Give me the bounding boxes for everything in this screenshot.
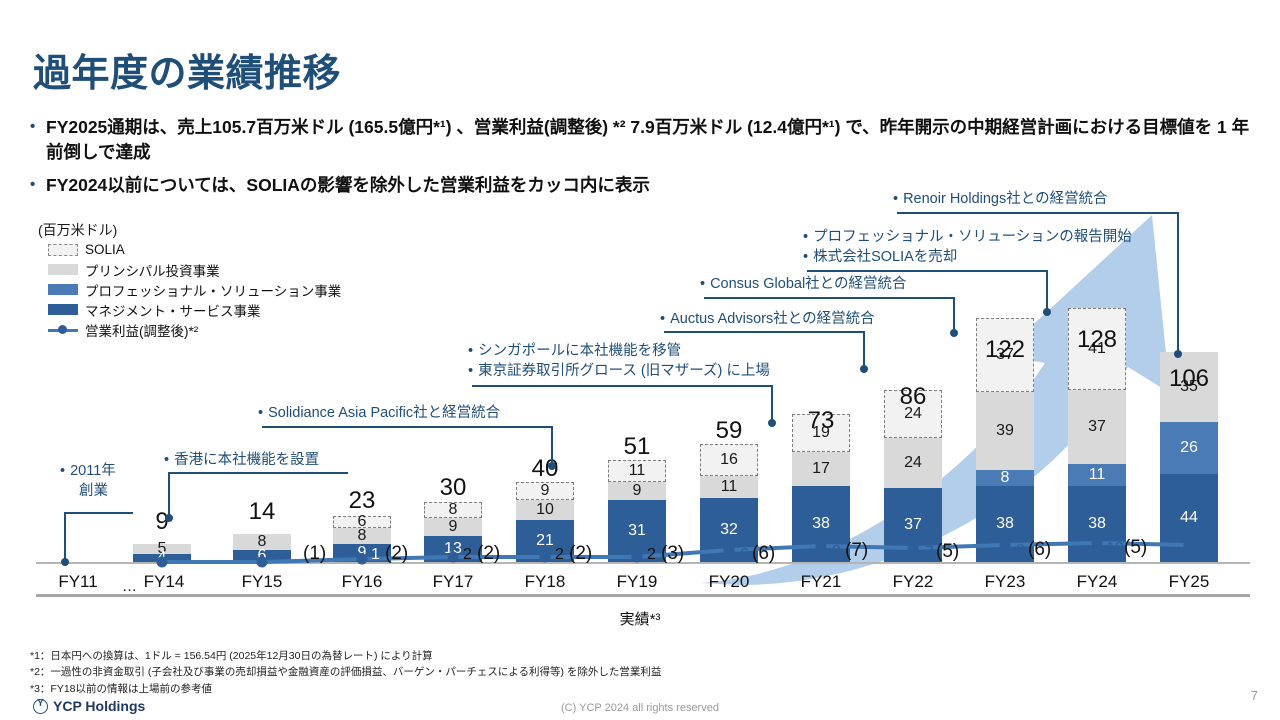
profit-label-FY21: 8 bbox=[832, 543, 841, 561]
segment-value: 8 bbox=[358, 528, 367, 544]
callout-line: 東京証券取引所グロース (旧マザーズ) に上場 bbox=[478, 363, 770, 379]
bar-FY16: 6 8 9 bbox=[333, 516, 391, 562]
x-label-FY11: FY11 bbox=[44, 572, 112, 592]
callout-bullet-icon: • bbox=[803, 229, 808, 245]
callout-auctus: •Auctus Advisors社との経営統合 bbox=[660, 310, 875, 330]
callout-solidiance: •Solidiance Asia Pacific社と経営統合 bbox=[258, 404, 500, 424]
callout-bullet-icon: • bbox=[60, 463, 65, 479]
x-label-FY15: FY15 bbox=[233, 572, 291, 592]
callout-consus-rule bbox=[704, 297, 954, 299]
bar-segment-management: 21 bbox=[516, 520, 574, 562]
profit-ex-label-FY21: (7) bbox=[845, 540, 868, 562]
callout-founded: •2011年 創業 bbox=[60, 462, 116, 501]
x-label-FY20: FY20 bbox=[700, 572, 758, 592]
segment-value: 10 bbox=[536, 502, 554, 518]
bar-total-FY24: 128 bbox=[1068, 326, 1126, 354]
callout-bullet-icon: • bbox=[893, 191, 898, 207]
profit-label-FY18: 2 bbox=[555, 546, 564, 564]
bullet-dot-icon: • bbox=[30, 173, 46, 198]
x-label-FY18: FY18 bbox=[516, 572, 574, 592]
callout-founded-stem bbox=[64, 512, 66, 560]
bullet-text: FY2025通期は、売上105.7百万米ドル (165.5億円*¹) 、営業利益… bbox=[46, 115, 1252, 166]
segment-value: 32 bbox=[720, 522, 738, 538]
bar-segment-professional: 11 bbox=[1068, 464, 1126, 486]
bar-segment-solia: 8 bbox=[424, 502, 482, 518]
bar-segment-professional: 26 bbox=[1160, 422, 1218, 474]
legend-label: プロフェッショナル・ソリューション事業 bbox=[85, 280, 341, 300]
legend-swatch-principal-icon bbox=[48, 264, 78, 275]
callout-solidiance-stem bbox=[551, 426, 553, 464]
chart-axis-line bbox=[36, 594, 1250, 597]
callout-line: 株式会社SOLIAを売却 bbox=[813, 249, 957, 265]
bar-segment-principal: 39 bbox=[976, 392, 1034, 470]
segment-value: 37 bbox=[904, 517, 922, 533]
callout-line: Consus Global社との経営統合 bbox=[710, 276, 906, 292]
bar-segment-solia: 11 bbox=[608, 460, 666, 482]
segment-value: 39 bbox=[996, 423, 1014, 439]
footnote-item: *2：一過性の非資金取引 (子会社及び事業の売却損益や金融資産の評価損益、バーゲ… bbox=[30, 664, 661, 680]
segment-value: 11 bbox=[629, 463, 646, 479]
callout-bullet-icon: • bbox=[700, 276, 705, 292]
callout-bullet-icon: • bbox=[258, 405, 263, 421]
x-label-FY16: FY16 bbox=[333, 572, 391, 592]
profit-ex-label-FY23: (6) bbox=[1028, 539, 1051, 561]
segment-value: 38 bbox=[996, 516, 1014, 532]
legend-swatch-management-icon bbox=[48, 304, 78, 315]
callout-solia-sale: •プロフェッショナル・ソリューションの報告開始 •株式会社SOLIAを売却 bbox=[803, 228, 1132, 267]
profit-ex-label-FY19: (3) bbox=[661, 543, 684, 565]
bullet-dot-icon: • bbox=[30, 115, 46, 166]
bar-total-FY22: 86 bbox=[884, 383, 942, 411]
segment-value: 6 bbox=[258, 548, 267, 564]
bar-segment-principal: 10 bbox=[516, 500, 574, 520]
bar-total-FY20: 59 bbox=[700, 417, 758, 445]
bar-FY22: 24 24 37 bbox=[884, 390, 942, 562]
slide-canvas: 過年度の業績推移 • FY2025通期は、売上105.7百万米ドル (165.5… bbox=[0, 0, 1280, 720]
bar-segment-principal: 17 bbox=[792, 452, 850, 486]
bar-total-FY18: 40 bbox=[516, 455, 574, 483]
callout-hongkong: •香港に本社機能を設置 bbox=[164, 451, 319, 471]
x-label-FY14: FY14 bbox=[135, 572, 193, 592]
x-label-FY22: FY22 bbox=[884, 572, 942, 592]
segment-value: 9 bbox=[449, 519, 458, 535]
callout-solia-sale-rule bbox=[807, 270, 1047, 272]
callout-solia-sale-stem bbox=[1046, 270, 1048, 310]
bar-FY20: 16 11 32 bbox=[700, 444, 758, 562]
legend-item-profit-line: 営業利益(調整後)*² bbox=[48, 320, 341, 339]
callout-renoir: •Renoir Holdings社との経営統合 bbox=[893, 190, 1108, 210]
callout-solidiance-rule bbox=[262, 426, 552, 428]
profit-ex-label-FY18: (2) bbox=[569, 543, 592, 565]
bar-segment-management: 38 bbox=[976, 486, 1034, 562]
profit-ex-label-FY16: (2) bbox=[385, 543, 408, 565]
callout-line: Renoir Holdings社との経営統合 bbox=[903, 191, 1108, 207]
bar-segment-principal: 11 bbox=[700, 476, 758, 498]
callout-renoir-stem bbox=[1177, 212, 1179, 352]
segment-value: 9 bbox=[541, 483, 550, 499]
profit-ex-label-FY22: (5) bbox=[936, 541, 959, 563]
profit-label-FY23: 9 bbox=[1016, 542, 1025, 560]
bar-segment-principal: 9 bbox=[424, 518, 482, 536]
segment-value: 13 bbox=[444, 541, 462, 557]
segment-value: 17 bbox=[812, 461, 830, 477]
footnote-item: *1：日本円への換算は、1ドル = 156.54円 (2025年12月30日の為… bbox=[30, 648, 661, 664]
bar-total-FY14: 9 bbox=[133, 508, 191, 536]
segment-value: 11 bbox=[721, 479, 738, 495]
bar-segment-management: 32 bbox=[700, 498, 758, 562]
bar-FY15: 8 6 bbox=[233, 534, 291, 562]
profit-ex-label-FY20: (6) bbox=[752, 543, 775, 565]
callout-line: 香港に本社機能を設置 bbox=[174, 452, 319, 468]
bar-total-FY25: 106 bbox=[1160, 365, 1218, 393]
bar-total-FY19: 51 bbox=[608, 433, 666, 461]
bar-FY17: 8 9 13 bbox=[424, 502, 482, 562]
callout-consus: •Consus Global社との経営統合 bbox=[700, 275, 907, 295]
x-label-FY19: FY19 bbox=[608, 572, 666, 592]
bar-segment-principal: 9 bbox=[608, 482, 666, 500]
x-label-FY17: FY17 bbox=[424, 572, 482, 592]
chart-unit-label: (百万米ドル) bbox=[38, 220, 117, 240]
segment-value: 4 bbox=[158, 550, 167, 566]
profit-ex-label-FY16-left: (1) bbox=[303, 543, 326, 565]
segment-value: 16 bbox=[720, 452, 738, 468]
chart-zero-line bbox=[36, 562, 1250, 564]
segment-value: 31 bbox=[628, 523, 646, 539]
callout-auctus-rule bbox=[664, 331, 864, 333]
page-number: 7 bbox=[1251, 688, 1258, 703]
segment-value: 24 bbox=[904, 455, 922, 471]
bar-segment-principal: 8 bbox=[333, 528, 391, 544]
x-label-FY21: FY21 bbox=[792, 572, 850, 592]
footnote-list: *1：日本円への換算は、1ドル = 156.54円 (2025年12月30日の為… bbox=[30, 648, 661, 697]
legend-swatch-profit-line-icon bbox=[48, 324, 78, 335]
bar-total-FY17: 30 bbox=[424, 474, 482, 502]
callout-solia-sale-endpoint bbox=[1043, 308, 1051, 316]
segment-value: 38 bbox=[812, 516, 830, 532]
axis-caption: 実績*³ bbox=[0, 608, 1280, 629]
callout-line: Solidiance Asia Pacific社と経営統合 bbox=[268, 405, 500, 421]
legend-swatch-solia-icon bbox=[48, 244, 78, 256]
callout-line: 2011年 bbox=[70, 463, 116, 479]
callout-line: 創業 bbox=[79, 483, 108, 499]
callout-bullet-icon: • bbox=[803, 249, 808, 265]
segment-value: 9 bbox=[633, 483, 642, 499]
callout-hongkong-endpoint bbox=[165, 514, 173, 522]
segment-value: 44 bbox=[1180, 510, 1198, 526]
segment-value: 9 bbox=[358, 545, 367, 561]
profit-label-FY22: 7 bbox=[925, 544, 934, 562]
segment-value: 26 bbox=[1180, 440, 1198, 456]
profit-label-FY17: 2 bbox=[463, 546, 472, 564]
callout-bullet-icon: • bbox=[468, 343, 473, 359]
legend-item-professional: プロフェッショナル・ソリューション事業 bbox=[48, 280, 341, 299]
callout-renoir-rule bbox=[897, 212, 1178, 214]
callout-line: プロフェッショナル・ソリューションの報告開始 bbox=[813, 229, 1132, 245]
x-label-FY23: FY23 bbox=[976, 572, 1034, 592]
bar-segment-management: 6 bbox=[233, 550, 291, 562]
callout-line: シンガポールに本社機能を移管 bbox=[478, 343, 681, 359]
callout-auctus-stem bbox=[863, 331, 865, 367]
bar-total-FY21: 73 bbox=[792, 407, 850, 435]
bar-segment-solia: 16 bbox=[700, 444, 758, 476]
legend-label: 営業利益(調整後)*² bbox=[85, 320, 198, 340]
bullet-item: • FY2025通期は、売上105.7百万米ドル (165.5億円*¹) 、営業… bbox=[30, 115, 1252, 166]
legend-item-solia: SOLIA bbox=[48, 240, 341, 259]
legend-label: マネジメント・サービス事業 bbox=[85, 300, 261, 320]
chart-legend: SOLIA プリンシパル投資事業 プロフェッショナル・ソリューション事業 マネジ… bbox=[48, 240, 341, 340]
callout-line: Auctus Advisors社との経営統合 bbox=[670, 311, 875, 327]
legend-item-management: マネジメント・サービス事業 bbox=[48, 300, 341, 319]
bar-FY14: 5 4 bbox=[133, 544, 191, 562]
profit-label-FY19: 2 bbox=[647, 546, 656, 564]
profit-ex-label-FY24: (5) bbox=[1124, 537, 1147, 559]
callout-bullet-icon: • bbox=[164, 452, 169, 468]
legend-swatch-professional-icon bbox=[48, 284, 78, 295]
profit-ex-label-FY17: (2) bbox=[477, 543, 500, 565]
legend-item-principal: プリンシパル投資事業 bbox=[48, 260, 341, 279]
callout-consus-stem bbox=[953, 297, 955, 331]
bar-FY19: 11 9 31 bbox=[608, 460, 666, 562]
callout-founded-endpoint bbox=[61, 558, 69, 566]
callout-hongkong-rule bbox=[168, 472, 348, 474]
bar-segment-management: 4 bbox=[133, 554, 191, 562]
bar-segment-management: 9 bbox=[333, 544, 391, 562]
bar-segment-management: 31 bbox=[608, 500, 666, 562]
bar-segment-management: 44 bbox=[1160, 474, 1218, 562]
callout-singapore-ipo: •シンガポールに本社機能を移管 •東京証券取引所グロース (旧マザーズ) に上場 bbox=[468, 342, 770, 381]
bar-segment-principal: 24 bbox=[884, 438, 942, 488]
bar-segment-management: 38 bbox=[792, 486, 850, 562]
x-label-FY24: FY24 bbox=[1068, 572, 1126, 592]
copyright-notice: (C) YCP 2024 all rights reserved bbox=[0, 702, 1280, 714]
segment-value: 8 bbox=[1001, 470, 1010, 486]
callout-solidiance-endpoint bbox=[548, 462, 556, 470]
bar-segment-management: 13 bbox=[424, 536, 482, 562]
bar-total-FY23: 122 bbox=[976, 336, 1034, 364]
segment-value: 11 bbox=[1089, 467, 1106, 483]
bar-FY21: 19 17 38 bbox=[792, 414, 850, 562]
callout-founded-rule bbox=[64, 512, 133, 514]
footnote-item: *3：FY18以前の情報は上場前の参考値 bbox=[30, 681, 661, 697]
bar-segment-principal: 37 bbox=[1068, 390, 1126, 464]
callout-singapore-ipo-rule bbox=[472, 385, 772, 387]
bar-total-FY15: 14 bbox=[233, 498, 291, 526]
profit-label-FY16: 1 bbox=[371, 546, 380, 564]
bar-segment-professional: 8 bbox=[976, 470, 1034, 486]
callout-singapore-ipo-endpoint bbox=[768, 419, 776, 427]
callout-auctus-endpoint bbox=[860, 365, 868, 373]
callout-bullet-icon: • bbox=[468, 363, 473, 379]
bar-FY18: 9 10 21 bbox=[516, 482, 574, 562]
bar-segment-solia: 9 bbox=[516, 482, 574, 500]
legend-label: プリンシパル投資事業 bbox=[85, 260, 220, 280]
callout-hongkong-stem bbox=[168, 472, 170, 516]
callout-singapore-ipo-stem bbox=[771, 385, 773, 421]
segment-value: 38 bbox=[1088, 516, 1106, 532]
segment-value: 21 bbox=[536, 533, 554, 549]
profit-label-FY25: 9 bbox=[1200, 542, 1209, 560]
legend-label: SOLIA bbox=[85, 242, 125, 257]
callout-bullet-icon: • bbox=[660, 311, 665, 327]
callout-consus-endpoint bbox=[950, 329, 958, 337]
profit-label-FY24: 10 bbox=[1106, 540, 1124, 558]
callout-renoir-endpoint bbox=[1174, 350, 1182, 358]
page-title: 過年度の業績推移 bbox=[33, 42, 341, 97]
profit-label-FY20: 6 bbox=[740, 546, 749, 564]
x-label-FY25: FY25 bbox=[1160, 572, 1218, 592]
segment-value: 8 bbox=[449, 502, 458, 518]
segment-value: 37 bbox=[1088, 419, 1106, 435]
bar-total-FY16: 23 bbox=[333, 487, 391, 515]
